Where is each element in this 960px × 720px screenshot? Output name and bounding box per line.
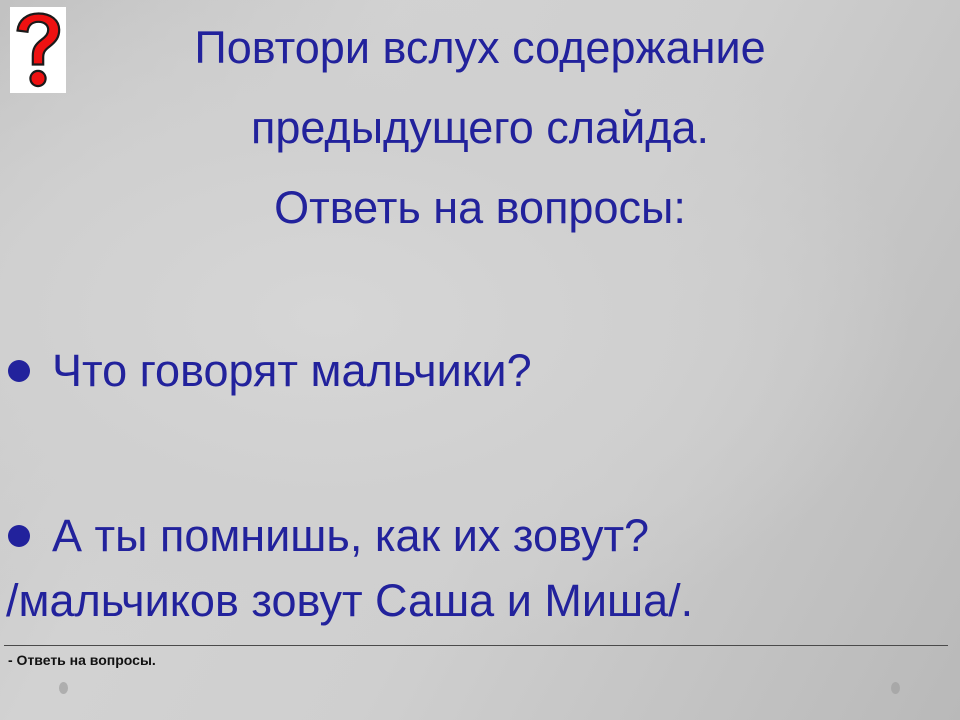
question-text-1: Что говорят мальчики? (52, 330, 532, 412)
slide-canvas: Повтори вслух содержание предыдущего сла… (0, 0, 960, 720)
slide-title: Повтори вслух содержание предыдущего сла… (0, 8, 960, 248)
decorative-dot-right (891, 682, 900, 694)
answer-text: /мальчиков зовут Саша и Миша/. (6, 570, 693, 632)
footer-divider (4, 645, 948, 646)
title-line-3: Ответь на вопросы: (0, 168, 960, 248)
list-item: Что говорят мальчики? (0, 330, 960, 495)
decorative-dot-left (59, 682, 68, 694)
title-line-1: Повтори вслух содержание (0, 8, 960, 88)
footer-note: - Ответь на вопросы. (8, 650, 156, 670)
bullet-dot-icon (8, 360, 30, 382)
question-text-2: А ты помнишь, как их зовут? (52, 495, 649, 577)
bullet-dot-icon (8, 525, 30, 547)
title-line-2: предыдущего слайда. (0, 88, 960, 168)
